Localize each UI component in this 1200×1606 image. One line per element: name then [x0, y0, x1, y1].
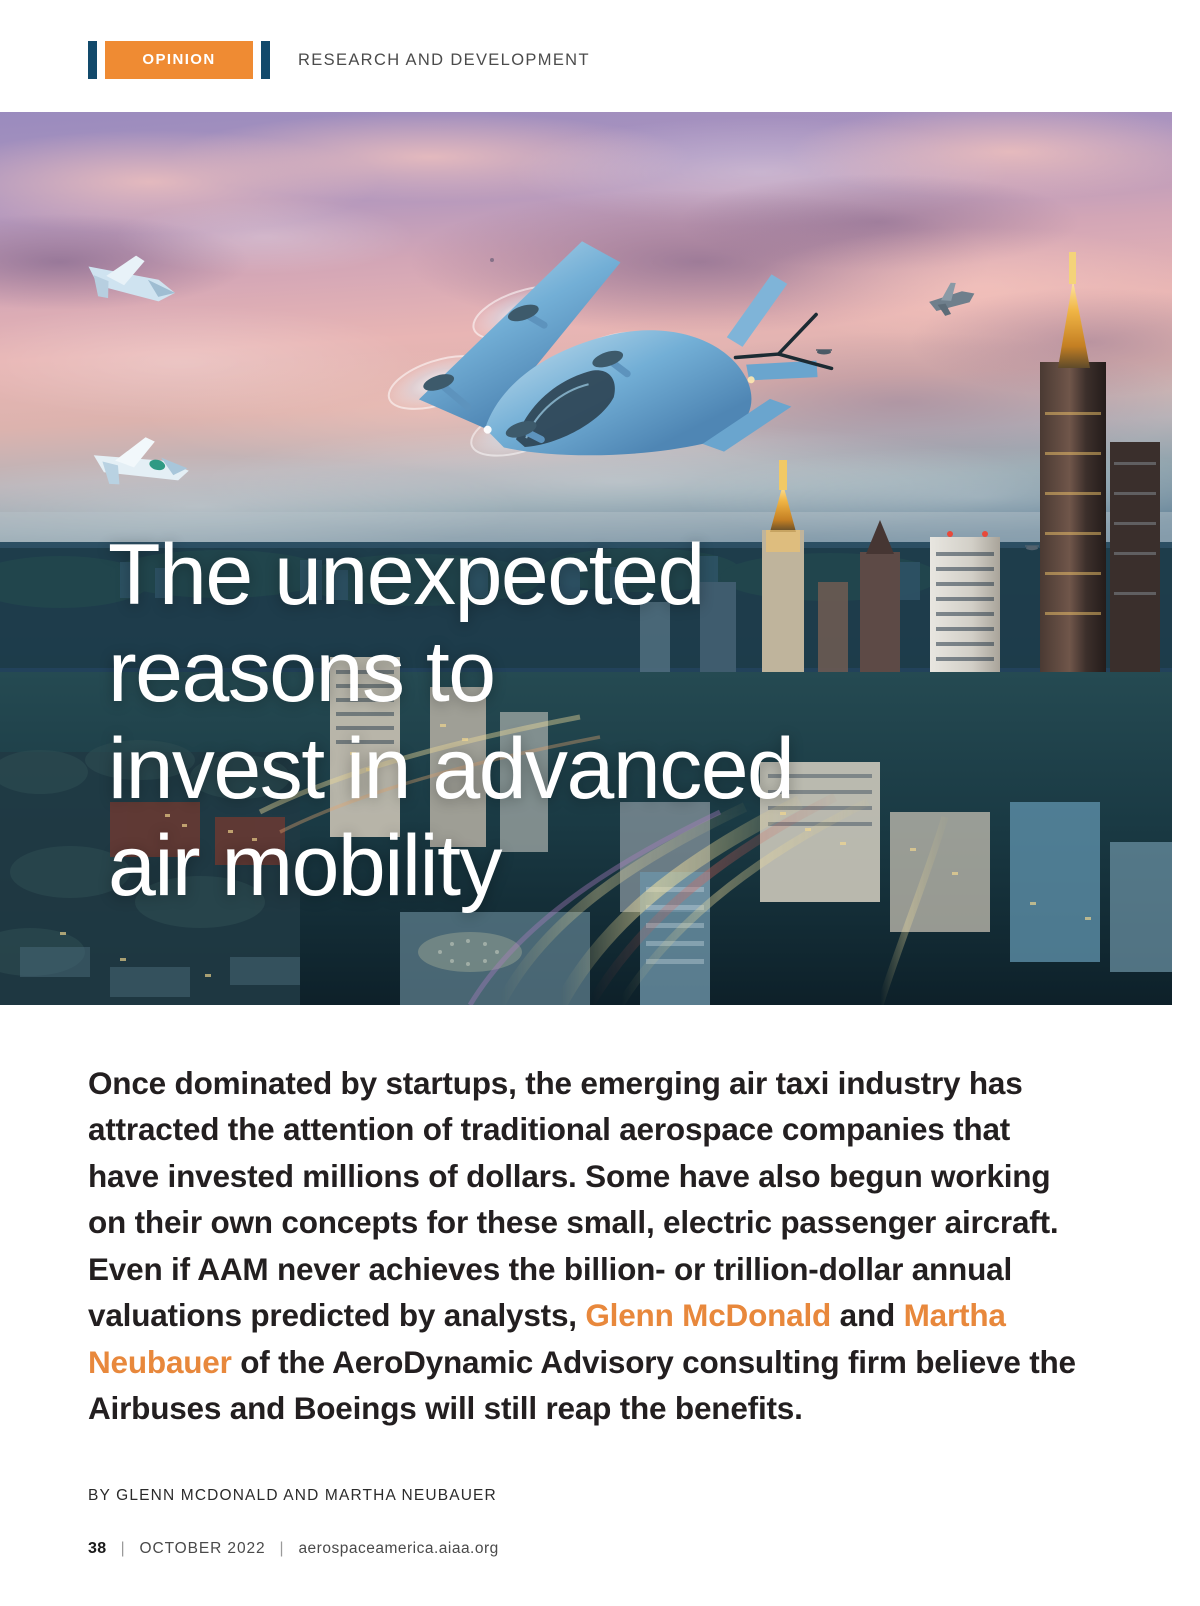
rule-left — [88, 41, 97, 79]
page-footer: 38 | OCTOBER 2022 | aerospaceamerica.aia… — [88, 1540, 499, 1558]
footer-separator-2: | — [280, 1540, 285, 1558]
article-deck: Once dominated by startups, the emerging… — [88, 1060, 1078, 1432]
deck-part-1: Once dominated by startups, the emerging… — [88, 1065, 1058, 1334]
section-label: RESEARCH AND DEVELOPMENT — [298, 51, 590, 70]
byline: BY GLENN MCDONALD AND MARTHA NEUBAUER — [88, 1487, 497, 1505]
deck-part-2: of the AeroDynamic Advisory consulting f… — [88, 1344, 1076, 1427]
footer-separator-1: | — [121, 1540, 126, 1558]
hero-image: The unexpected reasons to invest in adva… — [0, 112, 1172, 1005]
page-header: OPINION RESEARCH AND DEVELOPMENT — [0, 0, 1200, 112]
issue-date: OCTOBER 2022 — [140, 1540, 266, 1558]
author-name-1: Glenn McDonald — [585, 1297, 831, 1333]
page-number: 38 — [88, 1540, 107, 1558]
hero-illustration — [0, 112, 1172, 1005]
publication-url: aerospaceamerica.aiaa.org — [298, 1540, 498, 1558]
deck-conjunction: and — [831, 1297, 904, 1333]
rule-right — [261, 41, 270, 79]
opinion-tag: OPINION — [105, 41, 253, 79]
kicker-group: OPINION RESEARCH AND DEVELOPMENT — [88, 41, 590, 79]
distant-speck — [490, 258, 494, 262]
